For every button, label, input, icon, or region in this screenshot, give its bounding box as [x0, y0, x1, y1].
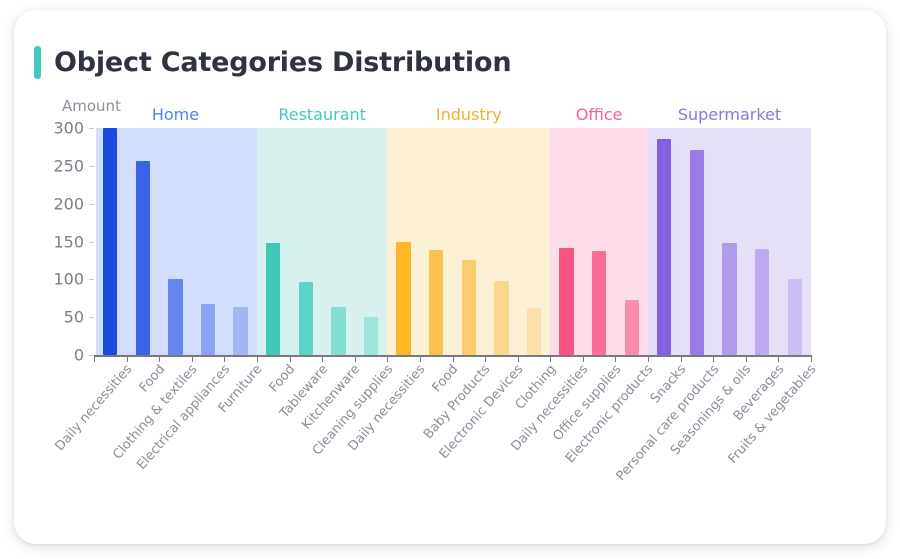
y-axis-tick-label: 0 [74, 346, 84, 365]
x-axis-tick [257, 355, 258, 362]
x-axis-tick [290, 355, 291, 362]
x-axis-tick [420, 355, 421, 362]
y-axis-tick [89, 166, 94, 167]
y-axis-tick [89, 128, 94, 129]
plot-area: HomeRestaurantIndustryOfficeSupermarket [94, 128, 811, 355]
x-axis-tick [778, 355, 779, 362]
group-label-office: Office [550, 105, 648, 124]
bar[interactable] [788, 279, 802, 355]
x-axis-tick [681, 355, 682, 362]
y-axis-line [94, 128, 96, 356]
y-axis-tick-label: 300 [53, 119, 84, 138]
bar[interactable] [201, 304, 215, 355]
bar-chart: Amount 050100150200250300 HomeRestaurant… [14, 10, 886, 544]
bar[interactable] [559, 248, 573, 355]
x-axis-tick [159, 355, 160, 362]
group-label-restaurant: Restaurant [257, 105, 387, 124]
group-label-industry: Industry [387, 105, 550, 124]
y-axis-tick-label: 100 [53, 270, 84, 289]
x-axis-tick [94, 355, 95, 362]
y-axis-tick-label: 50 [64, 308, 84, 327]
bar[interactable] [233, 307, 247, 355]
y-axis-tick-labels: 050100150200250300 [14, 10, 84, 544]
bar[interactable] [722, 243, 736, 355]
y-axis-tick [89, 279, 94, 280]
x-axis-tick [485, 355, 486, 362]
bar[interactable] [364, 317, 378, 355]
bar[interactable] [625, 300, 639, 355]
bar[interactable] [592, 251, 606, 355]
bar[interactable] [299, 282, 313, 355]
group-label-home: Home [94, 105, 257, 124]
x-axis-tick [746, 355, 747, 362]
x-axis-tick [224, 355, 225, 362]
y-axis-tick [89, 242, 94, 243]
x-axis-tick [192, 355, 193, 362]
bar[interactable] [527, 308, 541, 355]
bar[interactable] [396, 242, 410, 356]
x-axis-tick [518, 355, 519, 362]
x-axis-tick [583, 355, 584, 362]
x-axis-tick [453, 355, 454, 362]
bar[interactable] [494, 281, 508, 355]
bar[interactable] [657, 139, 671, 355]
bar[interactable] [266, 243, 280, 355]
y-axis-tick [89, 317, 94, 318]
chart-card: Object Categories Distribution Amount 05… [14, 10, 886, 544]
group-label-supermarket: Supermarket [648, 105, 811, 124]
x-axis-tick [648, 355, 649, 362]
x-axis-tick [615, 355, 616, 362]
x-axis-tick [322, 355, 323, 362]
x-axis-tick [811, 355, 812, 362]
y-axis-tick-label: 200 [53, 194, 84, 213]
x-axis-tick [550, 355, 551, 362]
bar[interactable] [136, 161, 150, 355]
y-axis-tick [89, 204, 94, 205]
bar[interactable] [103, 128, 117, 355]
x-axis-tick [355, 355, 356, 362]
bar[interactable] [690, 150, 704, 355]
bar[interactable] [331, 307, 345, 355]
bar[interactable] [755, 249, 769, 355]
x-axis-tick [127, 355, 128, 362]
bar[interactable] [168, 279, 182, 355]
bar[interactable] [462, 260, 476, 355]
x-axis-tick [713, 355, 714, 362]
y-axis-tick-label: 150 [53, 232, 84, 251]
bar[interactable] [429, 250, 443, 355]
x-axis-tick [387, 355, 388, 362]
y-axis-tick-label: 250 [53, 156, 84, 175]
